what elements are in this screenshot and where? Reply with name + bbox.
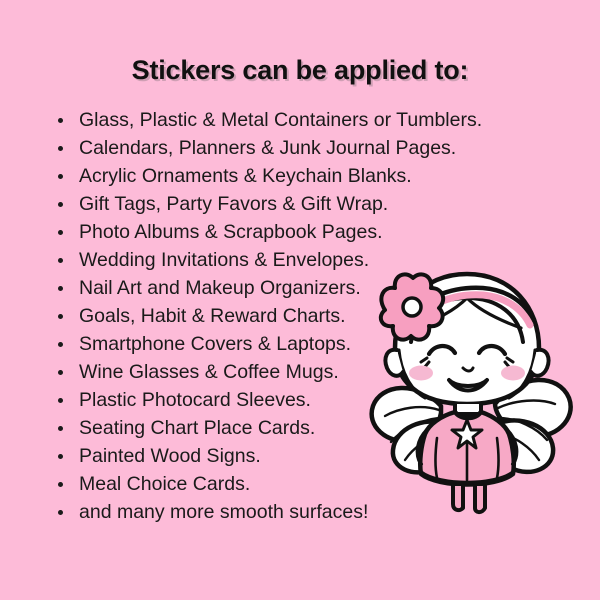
list-item: and many more smooth surfaces! xyxy=(56,498,482,526)
list-item: Glass, Plastic & Metal Containers or Tum… xyxy=(56,106,482,134)
list-item: Plastic Photocard Sleeves. xyxy=(56,386,482,414)
list-item: Gift Tags, Party Favors & Gift Wrap. xyxy=(56,190,482,218)
list-item: Wedding Invitations & Envelopes. xyxy=(56,246,482,274)
list-item: Photo Albums & Scrapbook Pages. xyxy=(56,218,482,246)
list-item: Acrylic Ornaments & Keychain Blanks. xyxy=(56,162,482,190)
list-item: Goals, Habit & Reward Charts. xyxy=(56,302,482,330)
page-title: Stickers can be applied to: xyxy=(0,55,600,86)
list-item: Seating Chart Place Cards. xyxy=(56,414,482,442)
list-item: Wine Glasses & Coffee Mugs. xyxy=(56,358,482,386)
list-item: Meal Choice Cards. xyxy=(56,470,482,498)
surface-list: Glass, Plastic & Metal Containers or Tum… xyxy=(56,106,482,526)
poster-canvas: Stickers can be applied to: Glass, Plast… xyxy=(0,0,600,600)
list-item: Smartphone Covers & Laptops. xyxy=(56,330,482,358)
list-item: Calendars, Planners & Junk Journal Pages… xyxy=(56,134,482,162)
list-item: Nail Art and Makeup Organizers. xyxy=(56,274,482,302)
list-item: Painted Wood Signs. xyxy=(56,442,482,470)
